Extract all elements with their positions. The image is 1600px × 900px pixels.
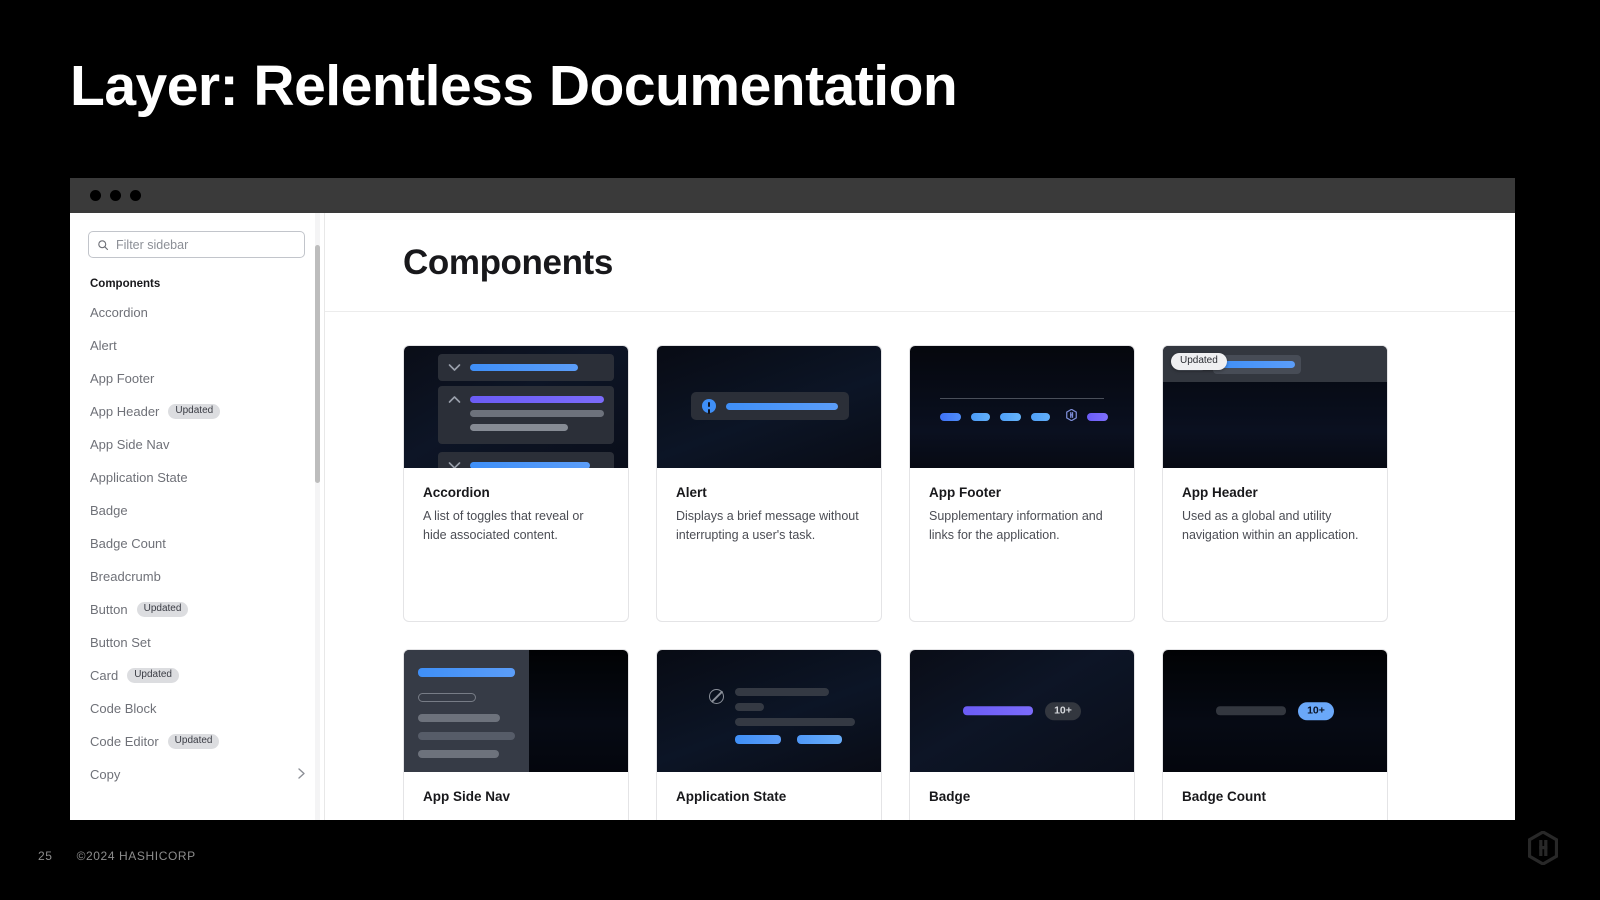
sidebar-item-label: Application State (90, 470, 188, 485)
card-description: Used as a global and utility navigation … (1182, 507, 1369, 546)
component-card-application-state[interactable]: Application State (656, 649, 882, 820)
card-title: App Footer (929, 485, 1116, 500)
component-card-alert[interactable]: AlertDisplays a brief message without in… (656, 345, 882, 622)
sidebar-item-app-footer[interactable]: App Footer (70, 362, 324, 395)
sidebar-item-app-header[interactable]: App HeaderUpdated (70, 395, 324, 428)
thumb-app-footer (910, 346, 1134, 468)
window-chrome-bar (70, 178, 1515, 213)
sidebar-item-app-side-nav[interactable]: App Side Nav (70, 428, 324, 461)
hashicorp-glyph-icon (1066, 408, 1077, 426)
sidebar-item-label: App Side Nav (90, 437, 170, 452)
card-title: Badge Count (1182, 789, 1369, 804)
card-text: Badge Count (1163, 772, 1387, 804)
chevron-right-icon (297, 767, 306, 783)
sidebar-item-badge-count[interactable]: Badge Count (70, 527, 324, 560)
badge-count-label: 10+ (1045, 702, 1081, 720)
minimize-dot-icon[interactable] (110, 190, 121, 201)
sidebar-item-updated-badge: Updated (168, 404, 220, 419)
card-text: AlertDisplays a brief message without in… (657, 468, 881, 546)
sidebar-item-label: Button (90, 602, 128, 617)
card-title: Badge (929, 789, 1116, 804)
card-text: AccordionA list of toggles that reveal o… (404, 468, 628, 546)
component-card-app-side-nav[interactable]: App Side Nav (403, 649, 629, 820)
accordion-row-collapsed (438, 354, 614, 381)
accordion-row-expanded (438, 386, 614, 444)
sidebar-item-label: Badge Count (90, 536, 166, 551)
window-body: Components AccordionAlertApp FooterApp H… (70, 213, 1515, 820)
card-description: A list of toggles that reveal or hide as… (423, 507, 610, 546)
card-text: Application State (657, 772, 881, 804)
component-card-badge-count[interactable]: 10+Badge Count (1162, 649, 1388, 820)
sidebar-item-label: Copy (90, 767, 120, 782)
sidebar: Components AccordionAlertApp FooterApp H… (70, 213, 325, 820)
card-title: Application State (676, 789, 863, 804)
sidebar-item-label: Button Set (90, 635, 151, 650)
thumb-accordion (404, 346, 628, 468)
sidebar-item-updated-badge: Updated (127, 668, 179, 683)
badge-preview: 10+ (910, 702, 1134, 720)
sidebar-item-application-state[interactable]: Application State (70, 461, 324, 494)
sidebar-item-label: Code Block (90, 701, 156, 716)
sidebar-item-label: Accordion (90, 305, 148, 320)
component-card-badge[interactable]: 10+Badge (909, 649, 1135, 820)
sidebar-item-code-editor[interactable]: Code EditorUpdated (70, 725, 324, 758)
card-text: Badge (910, 772, 1134, 804)
sidebar-item-updated-badge: Updated (168, 734, 220, 749)
thumb-app-side-nav (404, 650, 628, 772)
hashicorp-logo-icon (1528, 831, 1558, 870)
sidebar-item-button[interactable]: ButtonUpdated (70, 593, 324, 626)
component-card-app-header[interactable]: UpdatedApp HeaderUsed as a global and ut… (1162, 345, 1388, 622)
card-title: App Header (1182, 485, 1369, 500)
close-dot-icon[interactable] (90, 190, 101, 201)
sidebar-nav-list: Components AccordionAlertApp FooterApp H… (70, 272, 324, 791)
page-title: Layer: Relentless Documentation (70, 55, 957, 118)
component-card-grid: AccordionA list of toggles that reveal o… (325, 312, 1515, 820)
thumb-badge-count: 10+ (1163, 650, 1387, 772)
component-card-app-footer[interactable]: App FooterSupplementary information and … (909, 345, 1135, 622)
card-updated-badge: Updated (1171, 353, 1227, 370)
sidebar-item-badge[interactable]: Badge (70, 494, 324, 527)
maximize-dot-icon[interactable] (130, 190, 141, 201)
footer-divider (940, 398, 1104, 399)
sidebar-item-updated-badge: Updated (137, 602, 189, 617)
card-title: App Side Nav (423, 789, 610, 804)
application-state-preview (709, 688, 855, 744)
prohibited-icon (709, 689, 724, 704)
browser-window: Components AccordionAlertApp FooterApp H… (70, 178, 1515, 820)
side-nav-panel (404, 650, 529, 772)
card-title: Alert (676, 485, 863, 500)
search-icon (97, 239, 109, 251)
search-wrapper (70, 231, 324, 258)
sidebar-item-code-block[interactable]: Code Block (70, 692, 324, 725)
card-text: App Side Nav (404, 772, 628, 804)
footer-links (940, 408, 1108, 426)
main-header: Components (325, 213, 1515, 312)
sidebar-item-breadcrumb[interactable]: Breadcrumb (70, 560, 324, 593)
slide-page-number: 25 (38, 849, 53, 863)
chevron-down-icon (448, 461, 461, 468)
thumb-application-state (657, 650, 881, 772)
sidebar-item-copy[interactable]: Copy (70, 758, 324, 791)
badge-count-label: 10+ (1298, 702, 1334, 720)
card-description: Supplementary information and links for … (929, 507, 1116, 546)
component-card-accordion[interactable]: AccordionA list of toggles that reveal o… (403, 345, 629, 622)
sidebar-item-label: Badge (90, 503, 128, 518)
sidebar-item-label: Alert (90, 338, 117, 353)
alert-preview (691, 392, 849, 420)
sidebar-scrollbar-thumb[interactable] (315, 245, 320, 483)
card-text: App FooterSupplementary information and … (910, 468, 1134, 546)
main-content: Components AccordionA list of toggles th… (325, 213, 1515, 820)
slide-footer: 25 ©2024 HASHICORP (38, 849, 196, 863)
sidebar-item-accordion[interactable]: Accordion (70, 296, 324, 329)
components-page-title: Components (403, 243, 1515, 283)
slide-copyright: ©2024 HASHICORP (77, 849, 196, 863)
accordion-row-collapsed-2 (438, 452, 614, 468)
card-title: Accordion (423, 485, 610, 500)
thumb-alert (657, 346, 881, 468)
sidebar-item-label: Breadcrumb (90, 569, 161, 584)
thumb-badge: 10+ (910, 650, 1134, 772)
badge-count-preview: 10+ (1163, 702, 1387, 720)
sidebar-item-label: Card (90, 668, 118, 683)
info-icon (702, 399, 716, 413)
sidebar-item-label: App Header (90, 404, 159, 419)
sidebar-item-label: App Footer (90, 371, 154, 386)
search-input[interactable] (116, 238, 296, 252)
card-text: App HeaderUsed as a global and utility n… (1163, 468, 1387, 546)
search-box[interactable] (88, 231, 305, 258)
sidebar-item-alert[interactable]: Alert (70, 329, 324, 362)
chevron-up-icon (448, 395, 461, 404)
sidebar-item-card[interactable]: CardUpdated (70, 659, 324, 692)
card-description: Displays a brief message without interru… (676, 507, 863, 546)
chevron-down-icon (448, 363, 461, 372)
sidebar-item-label: Code Editor (90, 734, 159, 749)
sidebar-group-title-components: Components (70, 272, 324, 296)
thumb-app-header: Updated (1163, 346, 1387, 468)
sidebar-item-button-set[interactable]: Button Set (70, 626, 324, 659)
